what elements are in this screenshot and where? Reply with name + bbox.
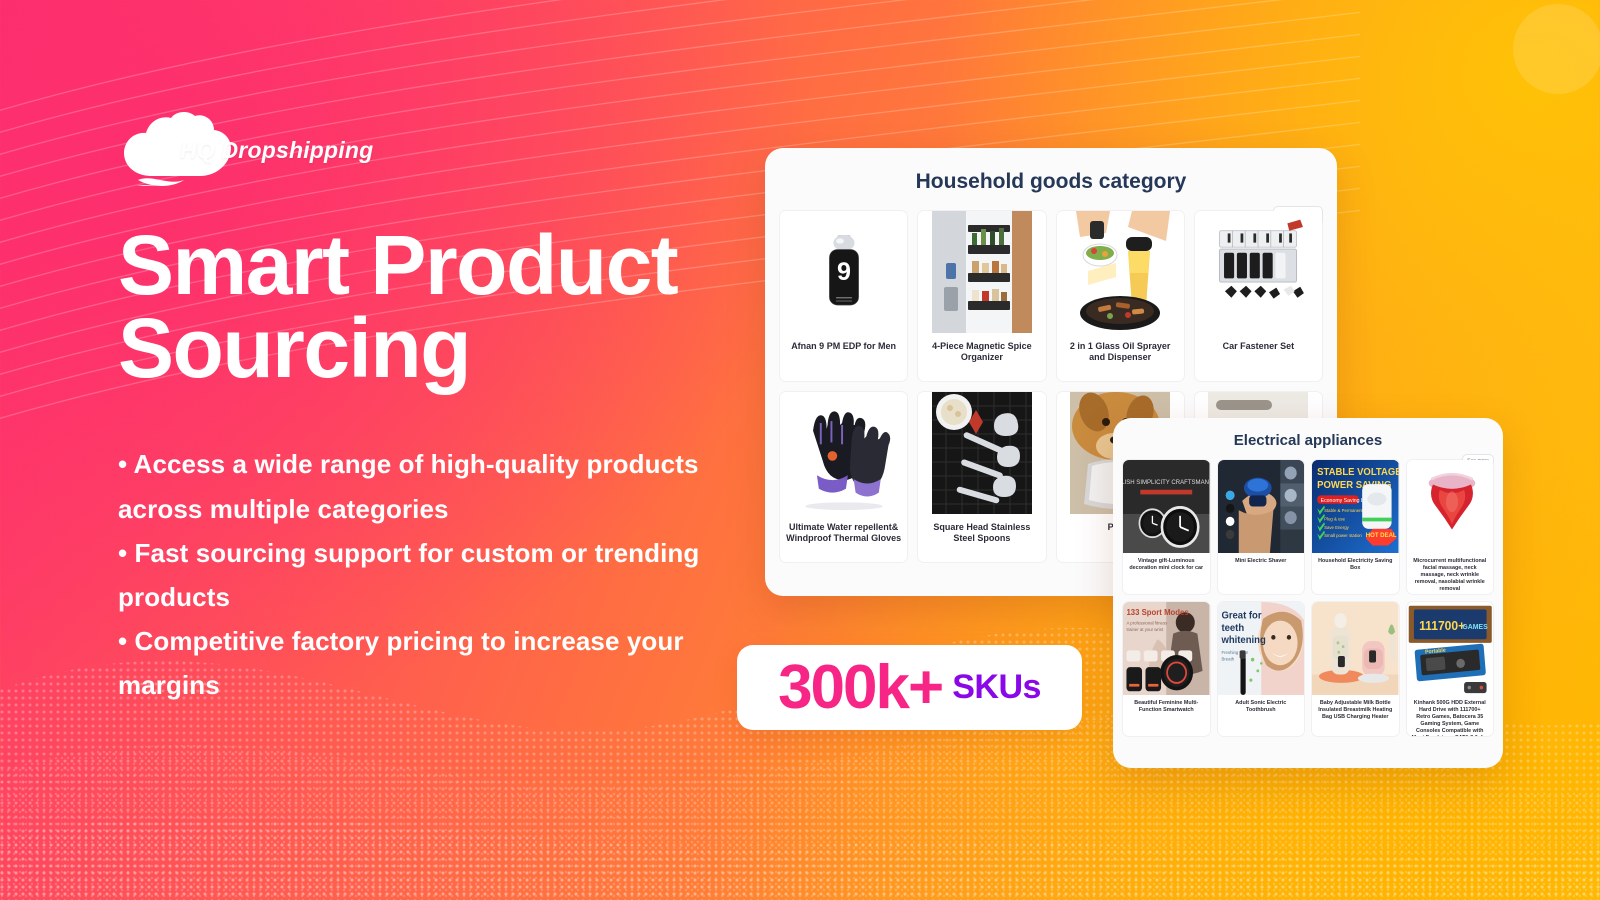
product-card[interactable]: Square Head Stainless Steel Spoons	[917, 391, 1046, 563]
product-image-oil-sprayer	[1057, 211, 1184, 333]
product-name: Square Head Stainless Steel Spoons	[918, 514, 1045, 545]
svg-text:111700+: 111700+	[1419, 619, 1465, 633]
product-card[interactable]: Car Fastener Set	[1194, 210, 1323, 382]
product-image-shaver	[1218, 460, 1305, 553]
svg-text:9: 9	[837, 258, 851, 286]
product-image-power-saver: STABLE VOLTAGE POWER SAVING Economy Savi…	[1312, 460, 1399, 553]
svg-text:trainer at your wrist: trainer at your wrist	[1126, 627, 1163, 632]
product-name: 4-Piece Magnetic Spice Organizer	[918, 333, 1045, 364]
svg-text:Great for: Great for	[1221, 610, 1261, 621]
sku-count-number: 300k+	[778, 657, 942, 719]
svg-text:whitening: whitening	[1220, 635, 1265, 646]
product-card[interactable]: 9 Afnan 9 PM EDP for Men	[779, 210, 908, 382]
product-name: Adult Sonic Electric Toothbrush	[1218, 695, 1305, 714]
product-card[interactable]: STABLE VOLTAGE POWER SAVING Economy Savi…	[1311, 459, 1400, 595]
svg-text:Small power station: Small power station	[1324, 533, 1362, 538]
product-name: Mini Electric Shaver	[1218, 553, 1305, 565]
product-card[interactable]: 133 Sport Modes A professional fitness t…	[1122, 601, 1211, 737]
product-name: Baby Adjustable Milk Bottle Insulated Br…	[1312, 695, 1399, 721]
svg-text:Save Energy: Save Energy	[1324, 525, 1349, 530]
brand-logo: HQ Dropshipping	[118, 108, 778, 186]
product-name: 2 in 1 Glass Oil Sprayer and Dispenser	[1057, 333, 1184, 364]
headline-line-2: Sourcing	[118, 301, 470, 395]
sku-count-badge: 300k+ SKUs	[737, 645, 1082, 730]
product-card[interactable]: STYLISH SIMPLICITY CRAFTSMANSHIP Vintage…	[1122, 459, 1211, 595]
product-image-smartwatch: 133 Sport Modes A professional fitness t…	[1123, 602, 1210, 695]
product-grid-electrical: STYLISH SIMPLICITY CRAFTSMANSHIP Vintage…	[1122, 459, 1494, 737]
product-card[interactable]: Mini Electric Shaver	[1217, 459, 1306, 595]
svg-text:133 Sport Modes: 133 Sport Modes	[1126, 608, 1189, 617]
product-image-perfume: 9	[780, 211, 907, 333]
product-card[interactable]: Great for teeth whitening Freshing Your …	[1217, 601, 1306, 737]
svg-text:teeth: teeth	[1221, 623, 1244, 634]
bullet-item: • Fast sourcing support for custom or tr…	[118, 531, 738, 619]
svg-text:Breath: Breath	[1221, 656, 1234, 661]
svg-text:STABLE VOLTAGE: STABLE VOLTAGE	[1317, 467, 1398, 478]
product-card[interactable]: Ultimate Water repellent& Windproof Ther…	[779, 391, 908, 563]
product-name: Microcurrent multifunctional facial mass…	[1407, 553, 1494, 593]
product-name: Beautiful Feminine Multi-Function Smartw…	[1123, 695, 1210, 714]
svg-text:A professional fitness: A professional fitness	[1126, 620, 1168, 625]
headline-line-1: Smart Product	[118, 218, 677, 312]
product-name: Vintage gift-Luminous decoration mini cl…	[1123, 553, 1210, 572]
product-image-spice-rack	[918, 211, 1045, 333]
product-card[interactable]: Baby Adjustable Milk Bottle Insulated Br…	[1311, 601, 1400, 737]
page-title: Smart Product Sourcing	[118, 224, 778, 390]
product-image-facial-device	[1407, 460, 1494, 553]
product-card[interactable]: 2 in 1 Glass Oil Sprayer and Dispenser	[1056, 210, 1185, 382]
hero-content: HQ Dropshipping Smart Product Sourcing •…	[118, 108, 778, 707]
product-image-fastener-kit	[1195, 211, 1322, 333]
product-name: Car Fastener Set	[1195, 333, 1322, 352]
panel-title-household: Household goods category	[765, 148, 1337, 194]
product-card[interactable]: 4-Piece Magnetic Spice Organizer	[917, 210, 1046, 382]
product-name: Ultimate Water repellent& Windproof Ther…	[780, 514, 907, 545]
svg-text:Plug & use: Plug & use	[1324, 516, 1345, 521]
product-name: Afnan 9 PM EDP for Men	[780, 333, 907, 352]
feature-bullet-list: • Access a wide range of high-quality pr…	[118, 442, 778, 707]
product-card[interactable]: 111700+ GAMES Portable Kinhank 500G HDD …	[1406, 601, 1495, 737]
svg-text:GAMES: GAMES	[1462, 623, 1488, 631]
product-image-bottle-warmer	[1312, 602, 1399, 695]
circle-decor	[1513, 4, 1600, 94]
product-image-spoons	[918, 392, 1045, 514]
svg-text:HOT DEAL: HOT DEAL	[1366, 532, 1397, 539]
product-image-gloves	[780, 392, 907, 514]
product-image-toothbrush: Great for teeth whitening Freshing Your …	[1218, 602, 1305, 695]
product-image-clock: STYLISH SIMPLICITY CRAFTSMANSHIP	[1123, 460, 1210, 553]
sku-count-label: SKUs	[952, 670, 1041, 706]
bullet-item: • Access a wide range of high-quality pr…	[118, 442, 738, 530]
brand-name: HQ Dropshipping	[180, 137, 373, 164]
svg-text:STYLISH SIMPLICITY CRAFTSMANSH: STYLISH SIMPLICITY CRAFTSMANSHIP	[1123, 479, 1210, 486]
product-card[interactable]: Microcurrent multifunctional facial mass…	[1406, 459, 1495, 595]
panel-electrical-appliances: Electrical appliances See more STYLISH S…	[1113, 418, 1503, 768]
product-name: Household Electricity Saving Box	[1312, 553, 1399, 572]
product-image-retro-games: 111700+ GAMES Portable	[1407, 602, 1494, 695]
svg-text:Stable & Permanent: Stable & Permanent	[1324, 508, 1363, 513]
product-name: Kinhank 500G HDD External Hard Drive wit…	[1407, 695, 1494, 737]
bullet-item: • Competitive factory pricing to increas…	[118, 619, 738, 707]
panel-title-electrical: Electrical appliances	[1113, 418, 1503, 449]
